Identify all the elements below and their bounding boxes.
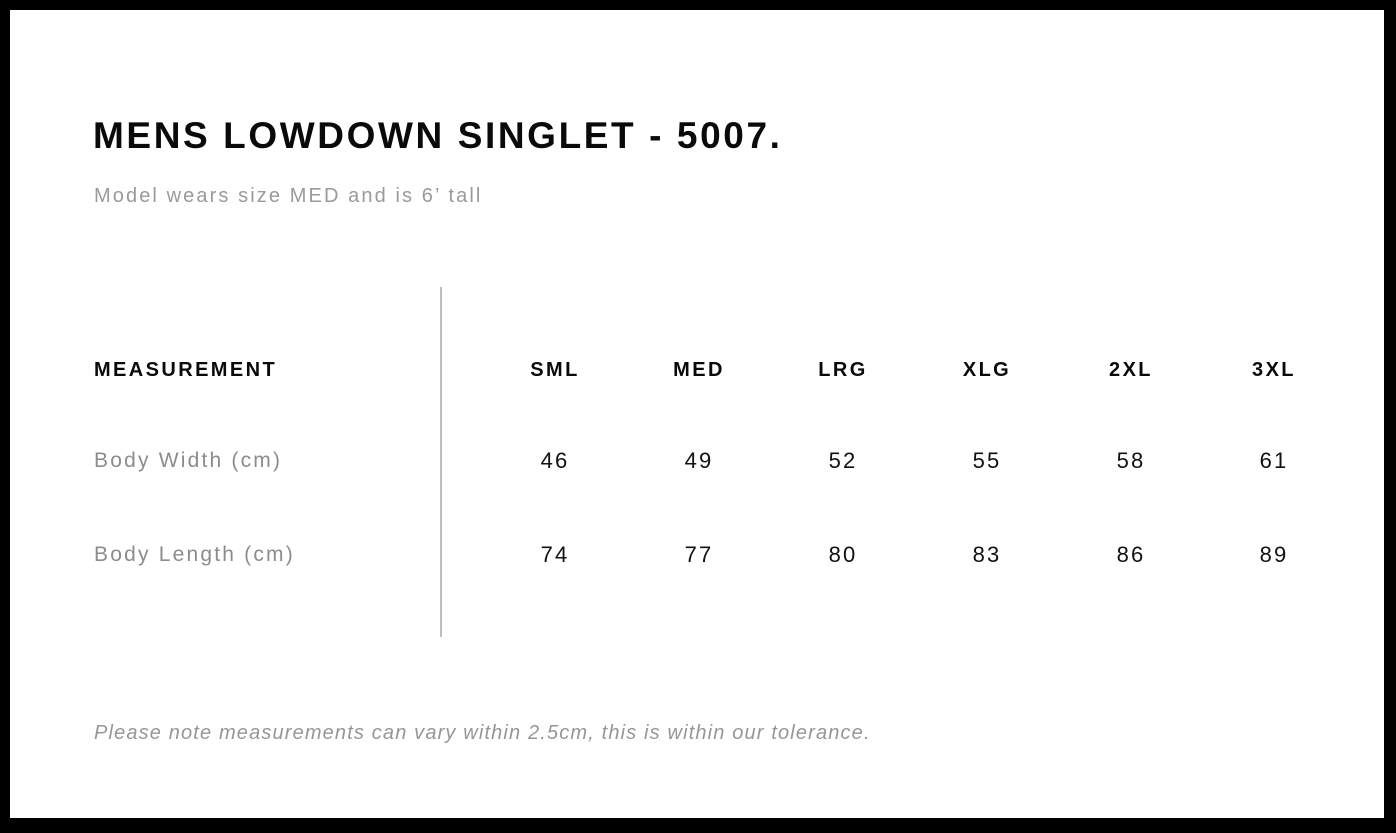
row-label-body-length: Body Length (cm)	[94, 535, 424, 575]
table-row: Body Width (cm) 46 49 52 55 58 61	[10, 441, 1384, 481]
column-header-measurement: MEASUREMENT	[94, 350, 424, 390]
column-header-med: MED	[639, 350, 759, 390]
column-header-3xl: 3XL	[1214, 350, 1334, 390]
cell-body-length-med: 77	[639, 535, 759, 575]
cell-body-width-med: 49	[639, 441, 759, 481]
cell-body-width-3xl: 61	[1214, 441, 1334, 481]
column-header-lrg: LRG	[783, 350, 903, 390]
cell-body-width-sml: 46	[495, 441, 615, 481]
cell-body-length-2xl: 86	[1071, 535, 1191, 575]
tolerance-footnote: Please note measurements can vary within…	[94, 722, 871, 745]
size-chart-card: MENS LOWDOWN SINGLET - 5007. Model wears…	[10, 10, 1384, 818]
model-info-subtitle: Model wears size MED and is 6’ tall	[94, 185, 482, 208]
cell-body-length-xlg: 83	[927, 535, 1047, 575]
column-header-xlg: XLG	[927, 350, 1047, 390]
cell-body-width-xlg: 55	[927, 441, 1047, 481]
column-header-2xl: 2XL	[1071, 350, 1191, 390]
page-title: MENS LOWDOWN SINGLET - 5007.	[93, 115, 783, 157]
table-row: Body Length (cm) 74 77 80 83 86 89	[10, 535, 1384, 575]
table-header-row: MEASUREMENT SML MED LRG XLG 2XL 3XL	[10, 350, 1384, 390]
cell-body-width-2xl: 58	[1071, 441, 1191, 481]
cell-body-length-lrg: 80	[783, 535, 903, 575]
cell-body-width-lrg: 52	[783, 441, 903, 481]
column-header-sml: SML	[495, 350, 615, 390]
cell-body-length-3xl: 89	[1214, 535, 1334, 575]
row-label-body-width: Body Width (cm)	[94, 441, 424, 481]
cell-body-length-sml: 74	[495, 535, 615, 575]
